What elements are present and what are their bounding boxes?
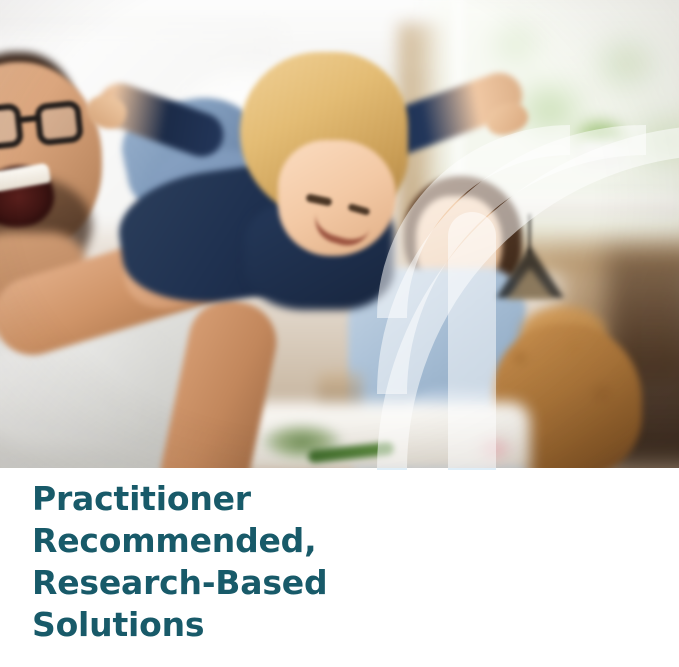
- pendant-lamp-shade: [506, 268, 554, 300]
- promo-card: Practitioner Recommended, Research-Based…: [0, 0, 679, 667]
- counter-object: [470, 430, 520, 468]
- window-planter: [578, 140, 622, 166]
- hero-image: [0, 0, 679, 468]
- page-title: Practitioner Recommended, Research-Based…: [32, 478, 432, 646]
- brand-arc-logo-on-white: [392, 468, 679, 540]
- eyeglasses-right-lens: [34, 100, 84, 147]
